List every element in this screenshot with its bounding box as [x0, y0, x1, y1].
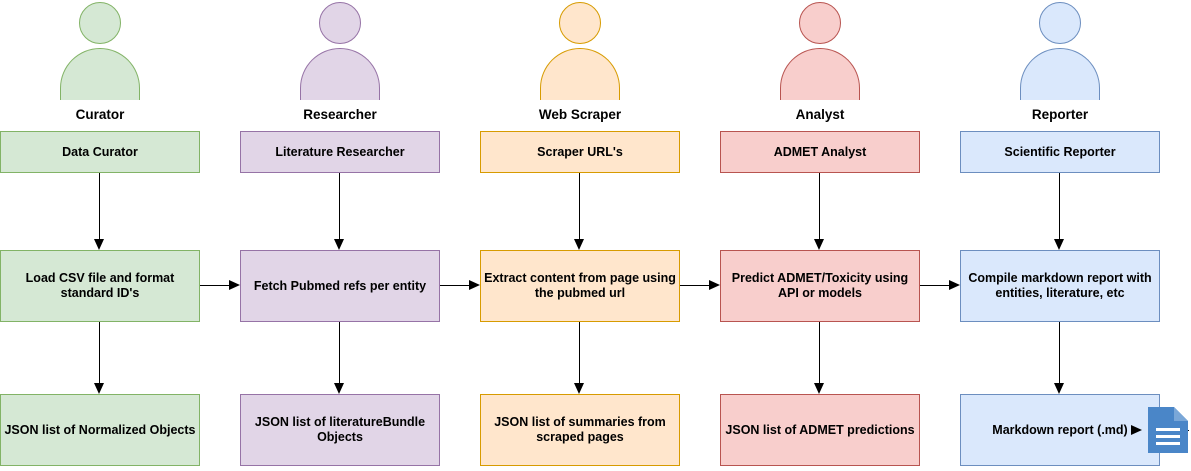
avatar-reporter	[1010, 2, 1110, 100]
connector-scraper-to-analyst	[680, 285, 709, 286]
node-researcher-task[interactable]: Fetch Pubmed refs per entity	[240, 250, 440, 322]
connector-web-scraper-1	[579, 173, 580, 239]
connector-web-scraper-2	[579, 322, 580, 383]
arrowhead-curator-to-researcher	[229, 280, 240, 290]
node-reporter-agent[interactable]: Scientific Reporter	[960, 131, 1160, 173]
arrowhead-scraper-to-analyst	[709, 280, 720, 290]
node-analyst-task[interactable]: Predict ADMET/Toxicity using API or mode…	[720, 250, 920, 322]
arrowhead-researcher-1	[334, 239, 344, 250]
node-curator-output[interactable]: JSON list of Normalized Objects	[0, 394, 200, 466]
node-curator-agent[interactable]: Data Curator	[0, 131, 200, 173]
node-web-scraper-output[interactable]: JSON list of summaries from scraped page…	[480, 394, 680, 466]
node-curator-task[interactable]: Load CSV file and format standard ID's	[0, 250, 200, 322]
avatar-body-icon	[300, 48, 380, 100]
connector-researcher-to-scraper	[440, 285, 469, 286]
arrowhead-researcher-2	[334, 383, 344, 394]
connector-researcher-1	[339, 173, 340, 239]
arrowhead-analyst-1	[814, 239, 824, 250]
role-label-curator: Curator	[0, 107, 200, 122]
connector-reporter-1	[1059, 173, 1060, 239]
role-label-web-scraper: Web Scraper	[480, 107, 680, 122]
node-reporter-task[interactable]: Compile markdown report with entities, l…	[960, 250, 1160, 322]
connector-curator-to-researcher	[200, 285, 229, 286]
column-web-scraper: Web Scraper Scraper URL's Extract conten…	[480, 0, 680, 471]
connector-analyst-2	[819, 322, 820, 383]
column-reporter: Reporter Scientific Reporter Compile mar…	[960, 0, 1160, 471]
avatar-head-icon	[1039, 2, 1081, 44]
arrowhead-reporter-1	[1054, 239, 1064, 250]
arrowhead-researcher-to-scraper	[469, 280, 480, 290]
connector-curator-1	[99, 173, 100, 239]
column-researcher: Researcher Literature Researcher Fetch P…	[240, 0, 440, 471]
role-label-analyst: Analyst	[720, 107, 920, 122]
node-analyst-agent[interactable]: ADMET Analyst	[720, 131, 920, 173]
arrowhead-analyst-2	[814, 383, 824, 394]
connector-reporter-2	[1059, 322, 1060, 383]
markdown-document-icon[interactable]	[1146, 406, 1190, 455]
avatar-head-icon	[799, 2, 841, 44]
avatar-web-scraper	[530, 2, 630, 100]
node-web-scraper-agent[interactable]: Scraper URL's	[480, 131, 680, 173]
arrowhead-curator-2	[94, 383, 104, 394]
connector-analyst-1	[819, 173, 820, 239]
arrowhead-analyst-to-reporter	[949, 280, 960, 290]
avatar-head-icon	[319, 2, 361, 44]
avatar-body-icon	[1020, 48, 1100, 100]
arrowhead-web-scraper-2	[574, 383, 584, 394]
arrowhead-report-to-file	[1131, 425, 1142, 435]
column-analyst: Analyst ADMET Analyst Predict ADMET/Toxi…	[720, 0, 920, 471]
node-web-scraper-task[interactable]: Extract content from page using the pubm…	[480, 250, 680, 322]
avatar-analyst	[770, 2, 870, 100]
node-researcher-output[interactable]: JSON list of literatureBundle Objects	[240, 394, 440, 466]
avatar-head-icon	[559, 2, 601, 44]
arrowhead-curator-1	[94, 239, 104, 250]
avatar-body-icon	[780, 48, 860, 100]
connector-researcher-2	[339, 322, 340, 383]
node-analyst-output[interactable]: JSON list of ADMET predictions	[720, 394, 920, 466]
avatar-head-icon	[79, 2, 121, 44]
role-label-reporter: Reporter	[960, 107, 1160, 122]
connector-analyst-to-reporter	[920, 285, 949, 286]
role-label-researcher: Researcher	[240, 107, 440, 122]
connector-curator-2	[99, 322, 100, 383]
avatar-researcher	[290, 2, 390, 100]
arrowhead-web-scraper-1	[574, 239, 584, 250]
avatar-body-icon	[60, 48, 140, 100]
node-researcher-agent[interactable]: Literature Researcher	[240, 131, 440, 173]
column-curator: Curator Data Curator Load CSV file and f…	[0, 0, 200, 471]
avatar-curator	[50, 2, 150, 100]
node-reporter-output[interactable]: Markdown report (.md)	[960, 394, 1160, 466]
arrowhead-reporter-2	[1054, 383, 1064, 394]
avatar-body-icon	[540, 48, 620, 100]
flowchart-canvas: Curator Data Curator Load CSV file and f…	[0, 0, 1191, 471]
